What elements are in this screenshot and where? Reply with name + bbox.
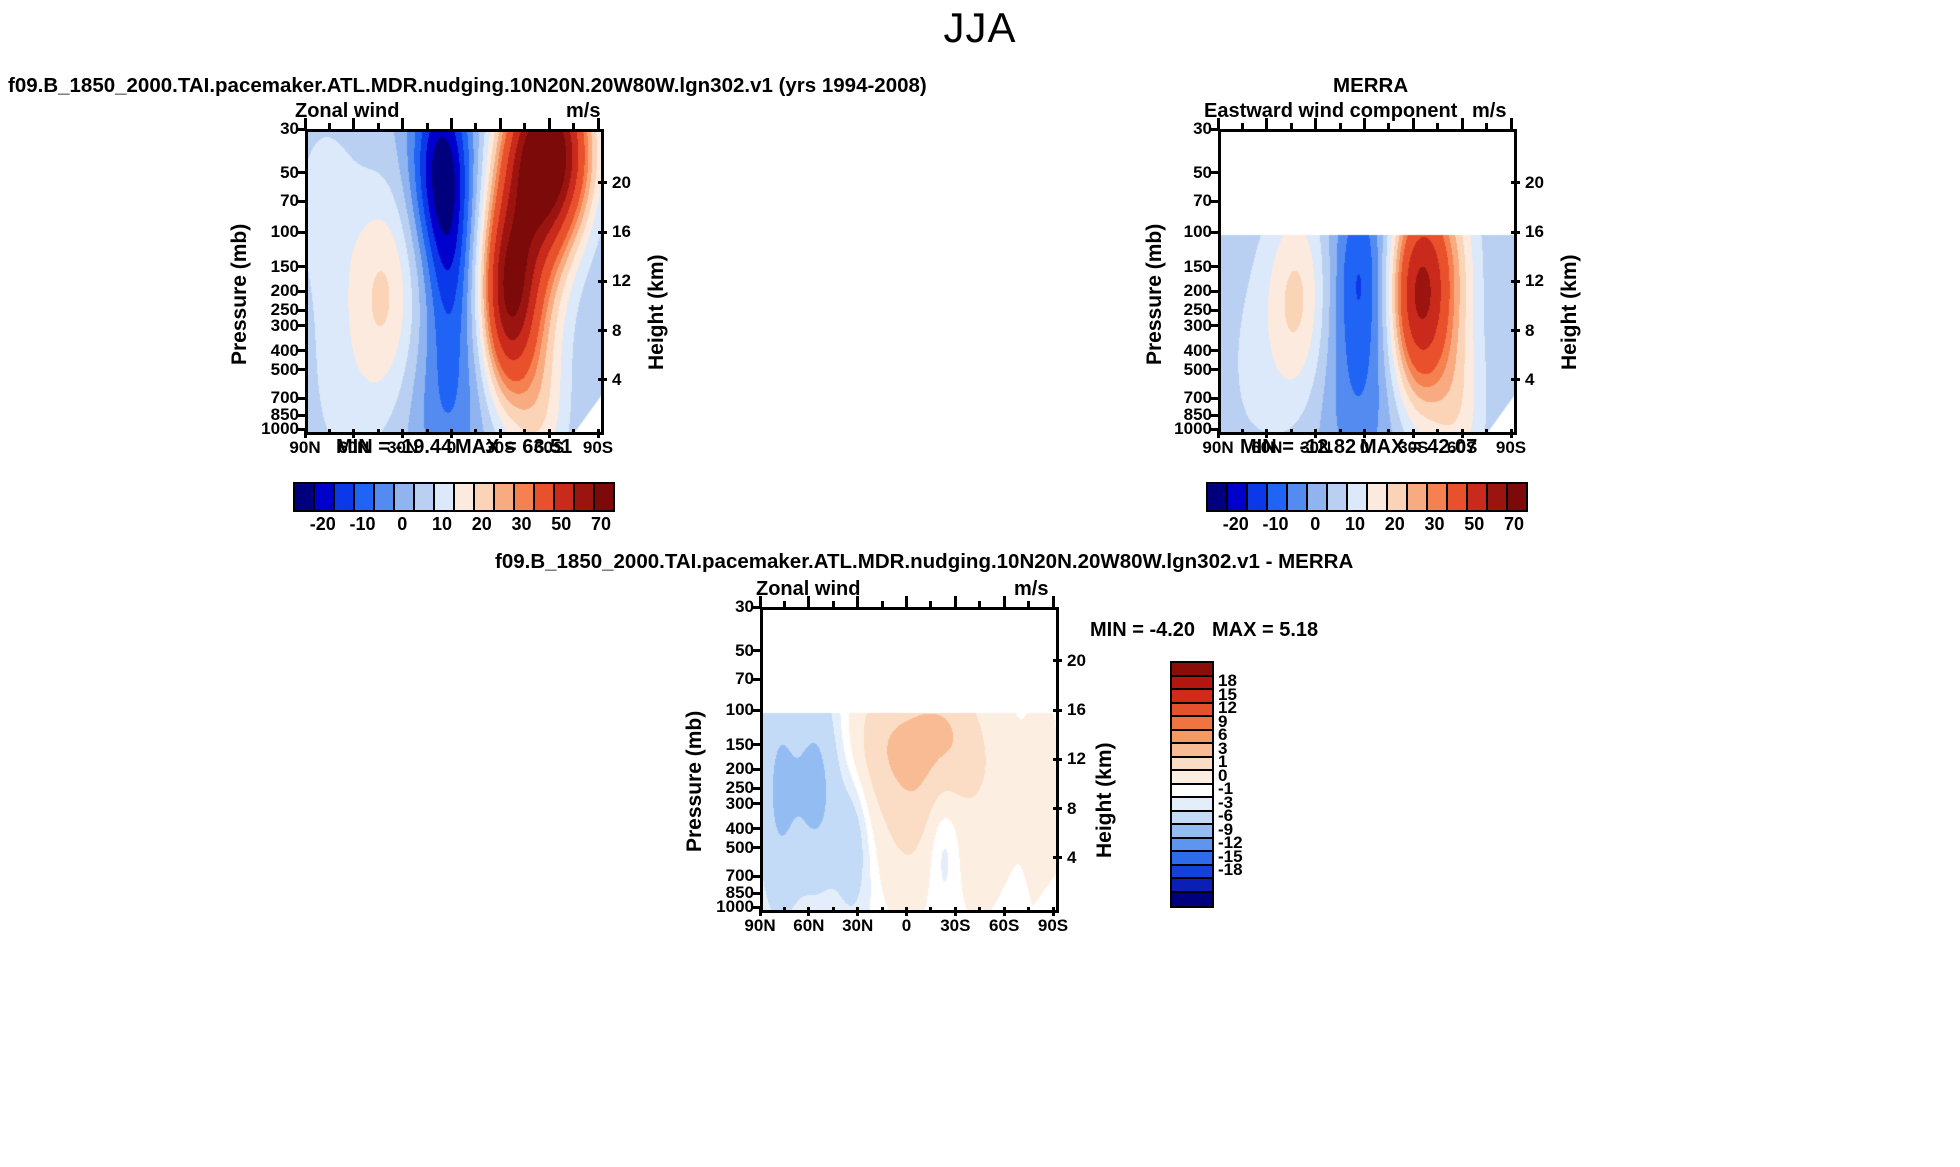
pressure-tick-label: 50	[704, 641, 754, 661]
pressure-tick-mark	[751, 846, 760, 849]
bottom-axis-tick	[572, 429, 575, 434]
colorbar-swatch	[295, 484, 315, 510]
pressure-tick-mark	[751, 802, 760, 805]
top-axis-tick	[807, 596, 810, 607]
diff-units-label: m/s	[1014, 578, 1048, 601]
latitude-tick-label: 0	[902, 916, 911, 936]
pressure-tick-mark	[296, 414, 305, 417]
pressure-tick-label: 150	[1162, 257, 1212, 277]
latitude-tick-label: 30N	[842, 916, 873, 936]
pressure-tick-mark	[1209, 324, 1218, 327]
colorbar-tick-label: 50	[1464, 514, 1484, 535]
bottom-axis-tick	[1003, 907, 1006, 916]
top-axis-tick	[548, 118, 551, 129]
height-tick-mark	[598, 231, 607, 234]
height-tick-label: 8	[1067, 799, 1076, 819]
pressure-tick-label: 50	[249, 163, 299, 183]
bottom-axis-tick	[783, 907, 786, 912]
top-axis-tick	[523, 123, 526, 129]
colorbar-swatch	[1172, 798, 1212, 812]
colorbar-swatch	[1268, 484, 1288, 510]
bottom-axis-tick	[304, 429, 307, 438]
pressure-tick-label: 100	[249, 222, 299, 242]
top-axis-tick	[450, 118, 453, 129]
pressure-tick-mark	[751, 678, 760, 681]
obs-variable-label: Eastward wind component	[1204, 100, 1457, 123]
colorbar-swatch	[515, 484, 535, 510]
bottom-axis-tick	[523, 429, 526, 434]
height-tick-label: 16	[1525, 222, 1544, 242]
top-axis-tick	[426, 123, 429, 129]
pressure-tick-mark	[296, 290, 305, 293]
top-axis-tick	[352, 118, 355, 129]
pressure-tick-mark	[296, 265, 305, 268]
model-panel-title: f09.B_1850_2000.TAI.pacemaker.ATL.MDR.nu…	[8, 74, 927, 98]
latitude-tick-label: 90S	[1496, 438, 1526, 458]
colorbar-tick-label: -20	[1223, 514, 1249, 535]
pressure-tick-label: 1000	[704, 897, 754, 917]
colorbar-tick-label: 30	[512, 514, 532, 535]
top-axis-tick	[832, 601, 835, 607]
model-units-label: m/s	[566, 100, 600, 123]
pressure-tick-label: 400	[249, 341, 299, 361]
pressure-tick-label: 30	[1162, 119, 1212, 139]
top-axis-tick	[1314, 118, 1317, 129]
latitude-tick-label: 90N	[289, 438, 320, 458]
model-max-label: MAX = 63.51	[455, 436, 572, 459]
bottom-axis-tick	[856, 907, 859, 916]
obs-plot-area	[1218, 129, 1517, 435]
pressure-tick-mark	[751, 743, 760, 746]
pressure-tick-mark	[751, 787, 760, 790]
bottom-axis-tick	[807, 907, 810, 916]
colorbar-swatch	[1368, 484, 1388, 510]
pressure-tick-label: 500	[249, 360, 299, 380]
colorbar-swatch	[1428, 484, 1448, 510]
bottom-axis-tick	[426, 429, 429, 434]
latitude-tick-label: 60S	[989, 916, 1019, 936]
colorbar-swatch	[1172, 717, 1212, 731]
pressure-tick-label: 300	[704, 794, 754, 814]
pressure-tick-label: 500	[1162, 360, 1212, 380]
colorbar-swatch	[1408, 484, 1428, 510]
top-axis-tick	[1003, 596, 1006, 607]
colorbar-swatch	[1208, 484, 1228, 510]
latitude-tick-label: 30S	[940, 916, 970, 936]
colorbar-swatch	[575, 484, 595, 510]
pressure-tick-mark	[751, 768, 760, 771]
pressure-tick-mark	[1209, 290, 1218, 293]
pressure-tick-label: 70	[249, 191, 299, 211]
top-axis-tick	[474, 123, 477, 129]
pressure-tick-mark	[296, 309, 305, 312]
pressure-tick-mark	[751, 709, 760, 712]
pressure-tick-label: 500	[704, 838, 754, 858]
latitude-tick-label: 60N	[793, 916, 824, 936]
bottom-axis-tick	[929, 907, 932, 912]
bottom-axis-tick	[328, 429, 331, 434]
colorbar-swatch	[555, 484, 575, 510]
colorbar-swatch	[475, 484, 495, 510]
pressure-tick-mark	[751, 649, 760, 652]
top-axis-tick	[1436, 123, 1439, 129]
height-tick-mark	[1511, 378, 1520, 381]
bottom-axis-tick	[1339, 429, 1342, 434]
model-variable-label: Zonal wind	[295, 100, 399, 123]
pressure-tick-mark	[296, 349, 305, 352]
obs-panel-title: MERRA	[1333, 74, 1408, 98]
pressure-tick-label: 400	[704, 819, 754, 839]
bottom-axis-tick	[954, 907, 957, 916]
pressure-tick-mark	[751, 875, 760, 878]
top-axis-tick	[1339, 123, 1342, 129]
pressure-tick-label: 70	[704, 669, 754, 689]
pressure-tick-mark	[751, 892, 760, 895]
colorbar-swatch	[1288, 484, 1308, 510]
height-tick-label: 16	[1067, 700, 1086, 720]
colorbar-swatch	[1228, 484, 1248, 510]
height-tick-mark	[1511, 280, 1520, 283]
top-axis-tick	[759, 596, 762, 607]
top-axis-tick	[597, 118, 600, 129]
colorbar-swatch	[395, 484, 415, 510]
pressure-tick-mark	[1209, 309, 1218, 312]
colorbar-tick-label: 0	[1310, 514, 1320, 535]
top-axis-tick	[1510, 118, 1513, 129]
top-axis-tick	[304, 118, 307, 129]
top-axis-tick	[783, 601, 786, 607]
colorbar-tick-label: 70	[1504, 514, 1524, 535]
pressure-tick-mark	[296, 231, 305, 234]
bottom-axis-tick	[474, 429, 477, 434]
top-axis-tick	[905, 596, 908, 607]
top-axis-tick	[1290, 123, 1293, 129]
colorbar-swatch	[335, 484, 355, 510]
height-tick-mark	[1511, 181, 1520, 184]
colorbar-swatch	[1172, 690, 1212, 704]
colorbar-swatch	[415, 484, 435, 510]
pressure-tick-label: 30	[249, 119, 299, 139]
colorbar-tick-label: 10	[1345, 514, 1365, 535]
top-axis-tick	[377, 123, 380, 129]
height-tick-mark	[1053, 807, 1062, 810]
colorbar-swatch	[1448, 484, 1468, 510]
colorbar-swatch	[375, 484, 395, 510]
height-tick-mark	[598, 181, 607, 184]
pressure-tick-label: 100	[704, 700, 754, 720]
bottom-axis-tick	[1510, 429, 1513, 438]
colorbar-tick-label: 70	[591, 514, 611, 535]
colorbar-swatch	[315, 484, 335, 510]
bottom-axis-tick	[1241, 429, 1244, 434]
bottom-axis-tick	[1485, 429, 1488, 434]
bottom-axis-tick	[759, 907, 762, 916]
colorbar-swatch	[1348, 484, 1368, 510]
colorbar-swatch	[1172, 893, 1212, 907]
top-axis-tick	[1027, 601, 1030, 607]
height-tick-label: 12	[1525, 271, 1544, 291]
colorbar-tick-label: 0	[397, 514, 407, 535]
colorbar-swatch	[535, 484, 555, 510]
latitude-tick-label: 90N	[1202, 438, 1233, 458]
obs-colorbar	[1206, 482, 1528, 512]
model-min-label: MIN = -19.44	[336, 436, 452, 459]
colorbar-swatch	[1172, 744, 1212, 758]
diff-panel-title: f09.B_1850_2000.TAI.pacemaker.ATL.MDR.nu…	[495, 550, 1353, 574]
colorbar-swatch	[1172, 677, 1212, 691]
bottom-axis-tick	[1436, 429, 1439, 434]
top-axis-tick	[978, 601, 981, 607]
colorbar-swatch	[1172, 812, 1212, 826]
model-height-axis-label: Height (km)	[645, 200, 669, 370]
colorbar-swatch	[1172, 663, 1212, 677]
colorbar-swatch	[1172, 879, 1212, 893]
pressure-tick-label: 150	[704, 735, 754, 755]
obs-units-label: m/s	[1472, 100, 1506, 123]
top-axis-tick	[929, 601, 932, 607]
pressure-tick-label: 150	[249, 257, 299, 277]
pressure-tick-label: 200	[1162, 281, 1212, 301]
height-tick-label: 8	[612, 321, 621, 341]
bottom-axis-tick	[377, 429, 380, 434]
bottom-axis-tick	[905, 907, 908, 916]
colorbar-swatch	[1248, 484, 1268, 510]
colorbar-swatch	[1172, 825, 1212, 839]
model-plot-area	[305, 129, 604, 435]
pressure-tick-mark	[1209, 265, 1218, 268]
height-tick-label: 20	[1525, 173, 1544, 193]
pressure-tick-mark	[751, 827, 760, 830]
top-axis-tick	[1412, 118, 1415, 129]
colorbar-swatch	[1508, 484, 1526, 510]
bottom-axis-tick	[597, 429, 600, 438]
colorbar-tick-label: -18	[1218, 860, 1243, 880]
height-tick-mark	[1053, 856, 1062, 859]
height-tick-label: 16	[612, 222, 631, 242]
colorbar-swatch	[1488, 484, 1508, 510]
pressure-tick-label: 30	[704, 597, 754, 617]
top-axis-tick	[1052, 596, 1055, 607]
pressure-tick-mark	[1209, 349, 1218, 352]
pressure-tick-label: 200	[704, 759, 754, 779]
bottom-axis-tick	[881, 907, 884, 912]
latitude-tick-label: 90S	[583, 438, 613, 458]
pressure-tick-label: 70	[1162, 191, 1212, 211]
colorbar-swatch	[1172, 839, 1212, 853]
bottom-axis-tick	[978, 907, 981, 912]
colorbar-swatch	[455, 484, 475, 510]
pressure-tick-label: 300	[249, 316, 299, 336]
colorbar-swatch	[435, 484, 455, 510]
colorbar-swatch	[495, 484, 515, 510]
colorbar-tick-label: 30	[1425, 514, 1445, 535]
height-tick-label: 8	[1525, 321, 1534, 341]
top-axis-tick	[1387, 123, 1390, 129]
bottom-axis-tick	[832, 907, 835, 912]
obs-min-label: MIN = -12.82	[1240, 436, 1356, 459]
height-tick-label: 12	[1067, 749, 1086, 769]
pressure-tick-label: 1000	[249, 419, 299, 439]
height-tick-mark	[1053, 709, 1062, 712]
pressure-tick-label: 300	[1162, 316, 1212, 336]
bottom-axis-tick	[1027, 907, 1030, 912]
height-tick-mark	[598, 280, 607, 283]
colorbar-swatch	[355, 484, 375, 510]
top-axis-tick	[328, 123, 331, 129]
obs-max-label: MAX = 42.07	[1360, 436, 1477, 459]
top-axis-tick	[401, 118, 404, 129]
colorbar-swatch	[595, 484, 613, 510]
latitude-tick-label: 90N	[744, 916, 775, 936]
pressure-tick-label: 1000	[1162, 419, 1212, 439]
top-axis-tick	[499, 118, 502, 129]
pressure-tick-mark	[1209, 231, 1218, 234]
diff-colorbar	[1170, 661, 1214, 908]
pressure-tick-mark	[296, 171, 305, 174]
colorbar-swatch	[1172, 866, 1212, 880]
model-colorbar	[293, 482, 615, 512]
colorbar-swatch	[1468, 484, 1488, 510]
colorbar-tick-label: 50	[551, 514, 571, 535]
diff-max-label: MAX = 5.18	[1212, 619, 1318, 642]
top-axis-tick	[1241, 123, 1244, 129]
pressure-tick-label: 400	[1162, 341, 1212, 361]
bottom-axis-tick	[1217, 429, 1220, 438]
colorbar-tick-label: -20	[310, 514, 336, 535]
height-tick-mark	[1053, 758, 1062, 761]
colorbar-tick-label: -10	[1263, 514, 1289, 535]
colorbar-swatch	[1172, 785, 1212, 799]
colorbar-swatch	[1172, 852, 1212, 866]
height-tick-label: 20	[612, 173, 631, 193]
diff-height-axis-label: Height (km)	[1093, 688, 1117, 858]
height-tick-label: 4	[1525, 370, 1534, 390]
pressure-tick-mark	[296, 200, 305, 203]
pressure-tick-mark	[296, 324, 305, 327]
height-tick-mark	[598, 329, 607, 332]
diff-plot-area	[760, 607, 1059, 913]
colorbar-swatch	[1172, 731, 1212, 745]
pressure-tick-mark	[1209, 397, 1218, 400]
colorbar-swatch	[1308, 484, 1328, 510]
colorbar-tick-label: 10	[432, 514, 452, 535]
top-axis-tick	[856, 596, 859, 607]
top-axis-tick	[881, 601, 884, 607]
pressure-tick-mark	[1209, 200, 1218, 203]
colorbar-tick-label: 20	[1385, 514, 1405, 535]
top-axis-tick	[1217, 118, 1220, 129]
top-axis-tick	[1485, 123, 1488, 129]
top-axis-tick	[572, 123, 575, 129]
height-tick-mark	[598, 378, 607, 381]
colorbar-swatch	[1328, 484, 1348, 510]
bottom-axis-tick	[1290, 429, 1293, 434]
height-tick-label: 20	[1067, 651, 1086, 671]
colorbar-tick-label: -10	[350, 514, 376, 535]
colorbar-swatch	[1172, 771, 1212, 785]
top-axis-tick	[1265, 118, 1268, 129]
pressure-tick-mark	[1209, 414, 1218, 417]
colorbar-swatch	[1172, 704, 1212, 718]
obs-height-axis-label: Height (km)	[1558, 200, 1582, 370]
height-tick-mark	[1511, 329, 1520, 332]
top-axis-tick	[1363, 118, 1366, 129]
colorbar-swatch	[1172, 758, 1212, 772]
pressure-tick-label: 100	[1162, 222, 1212, 242]
height-tick-label: 4	[1067, 848, 1076, 868]
pressure-tick-mark	[296, 397, 305, 400]
pressure-tick-mark	[1209, 368, 1218, 371]
pressure-tick-mark	[1209, 171, 1218, 174]
colorbar-tick-label: 20	[472, 514, 492, 535]
pressure-tick-label: 200	[249, 281, 299, 301]
pressure-tick-label: 50	[1162, 163, 1212, 183]
height-tick-mark	[1053, 659, 1062, 662]
bottom-axis-tick	[1052, 907, 1055, 916]
top-axis-tick	[954, 596, 957, 607]
latitude-tick-label: 90S	[1038, 916, 1068, 936]
height-tick-mark	[1511, 231, 1520, 234]
colorbar-swatch	[1388, 484, 1408, 510]
top-axis-tick	[1461, 118, 1464, 129]
height-tick-label: 4	[612, 370, 621, 390]
height-tick-label: 12	[612, 271, 631, 291]
bottom-axis-tick	[1387, 429, 1390, 434]
pressure-tick-mark	[296, 368, 305, 371]
diff-min-label: MIN = -4.20	[1090, 619, 1195, 642]
season-title: JJA	[0, 4, 1960, 52]
